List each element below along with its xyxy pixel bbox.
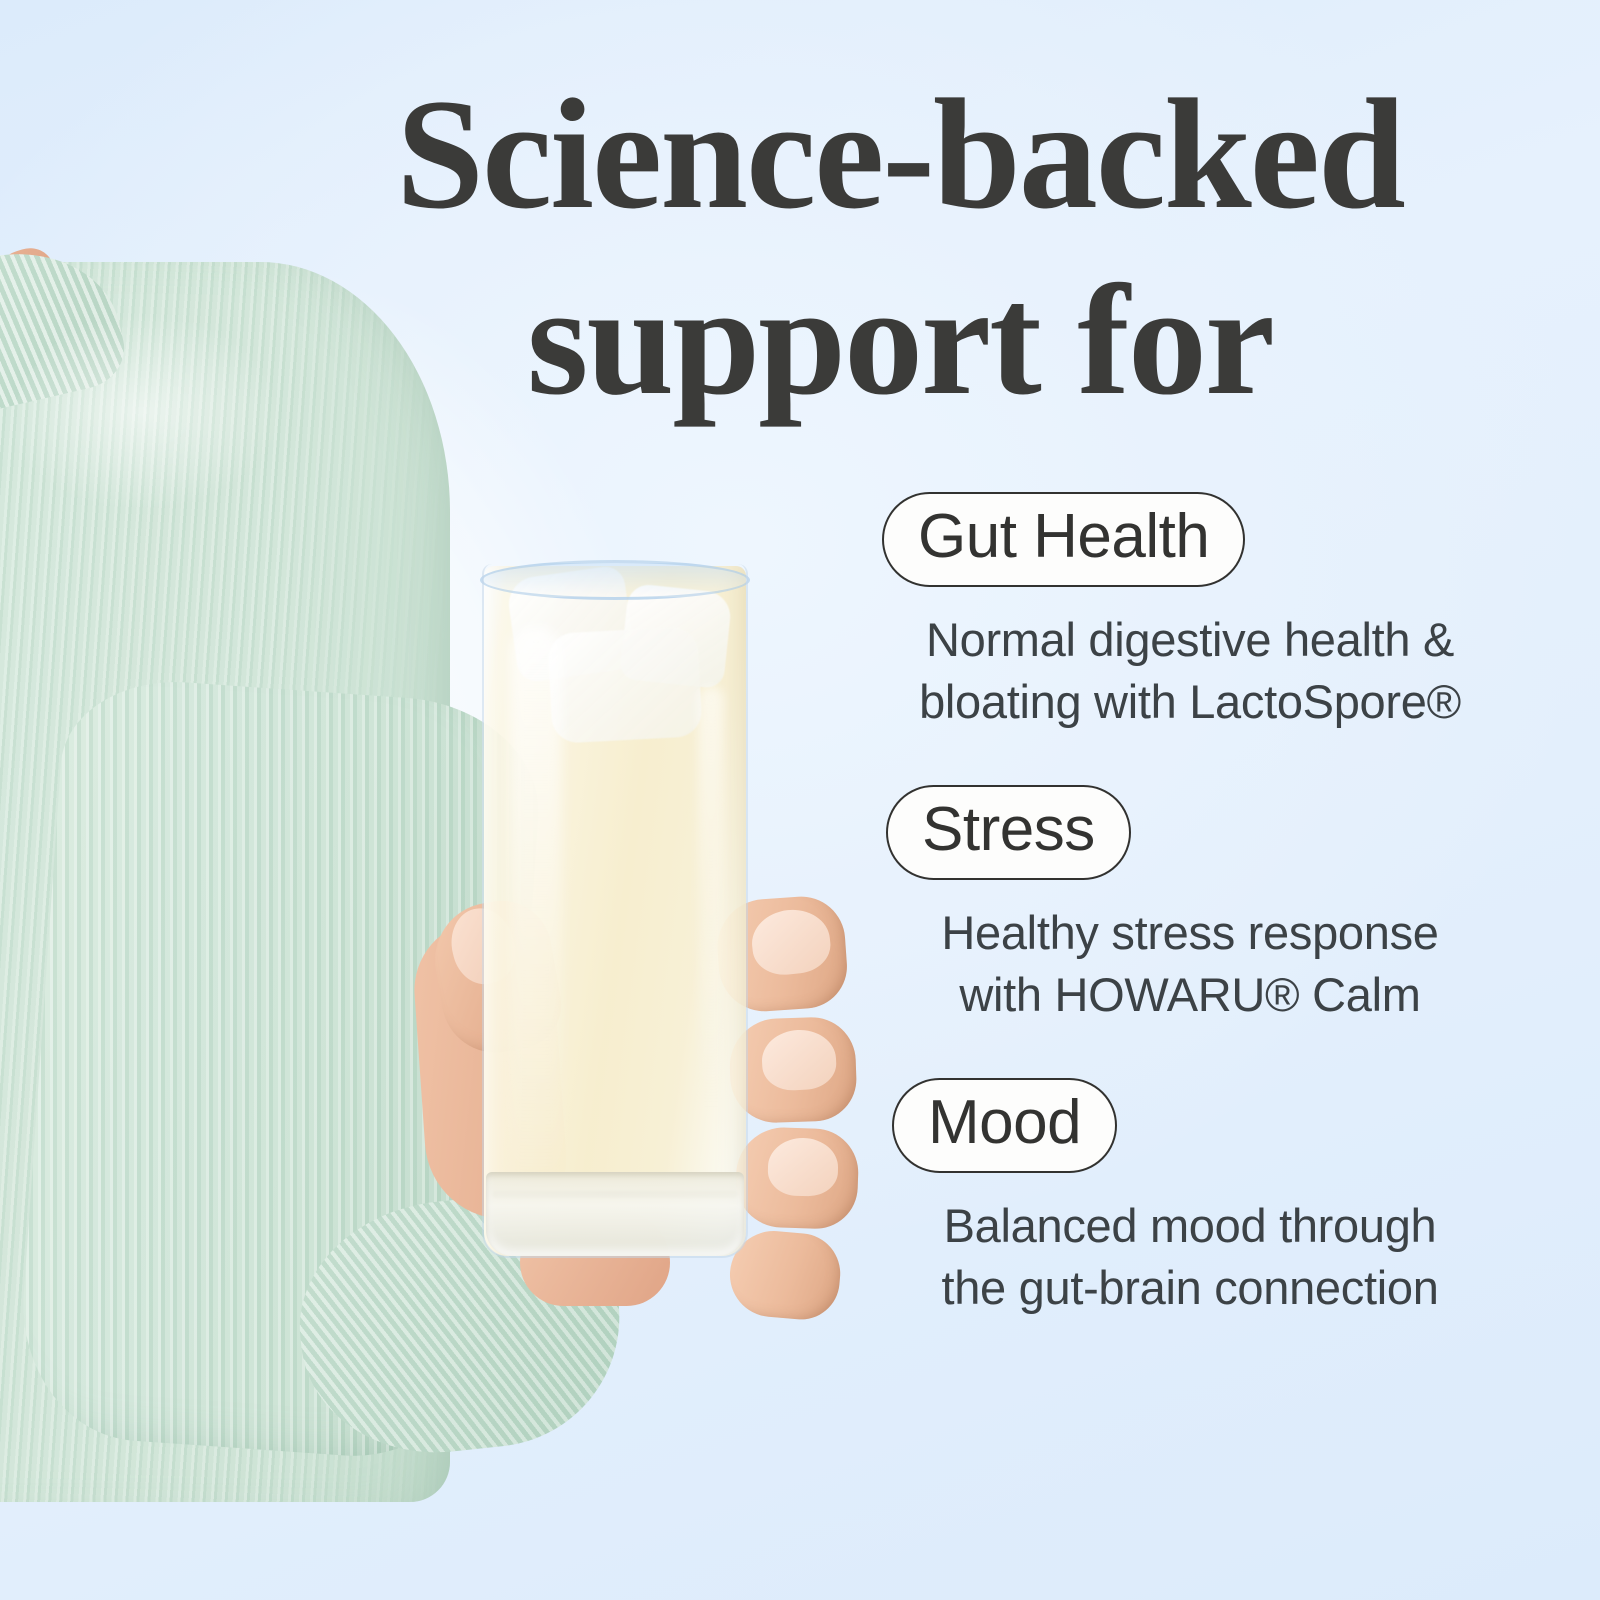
benefit-desc-line-2: with HOWARU® Calm: [860, 964, 1520, 1026]
benefit-desc-line-1: Balanced mood through: [860, 1195, 1520, 1257]
drinking-glass: [484, 566, 746, 1256]
benefit-desc-line-1: Normal digestive health &: [860, 609, 1520, 671]
benefit-badge-mood[interactable]: Mood: [892, 1078, 1117, 1173]
benefit-gut-health: Gut Health Normal digestive health & blo…: [860, 492, 1520, 733]
benefit-list: Gut Health Normal digestive health & blo…: [860, 492, 1520, 1319]
headline-line-2: support for: [300, 248, 1500, 434]
benefit-badge-gut-health[interactable]: Gut Health: [882, 492, 1245, 587]
benefit-mood: Mood Balanced mood through the gut-brain…: [860, 1078, 1520, 1319]
promo-canvas: Science-backed support for Gut Health No…: [0, 0, 1600, 1600]
benefit-description-mood: Balanced mood through the gut-brain conn…: [860, 1195, 1520, 1319]
benefit-description-gut-health: Normal digestive health & bloating with …: [860, 609, 1520, 733]
benefit-stress: Stress Healthy stress response with HOWA…: [860, 785, 1520, 1026]
benefit-desc-line-2: the gut-brain connection: [860, 1257, 1520, 1319]
benefit-desc-line-2: bloating with LactoSpore®: [860, 671, 1520, 733]
benefit-description-stress: Healthy stress response with HOWARU® Cal…: [860, 902, 1520, 1026]
benefit-desc-line-1: Healthy stress response: [860, 902, 1520, 964]
benefit-badge-stress[interactable]: Stress: [886, 785, 1131, 880]
nail-ring: [767, 1137, 838, 1196]
headline-line-1: Science-backed: [300, 62, 1500, 248]
page-title: Science-backed support for: [300, 62, 1500, 435]
glass-outline: [482, 564, 748, 1258]
shoulder-highlight: [10, 300, 340, 580]
